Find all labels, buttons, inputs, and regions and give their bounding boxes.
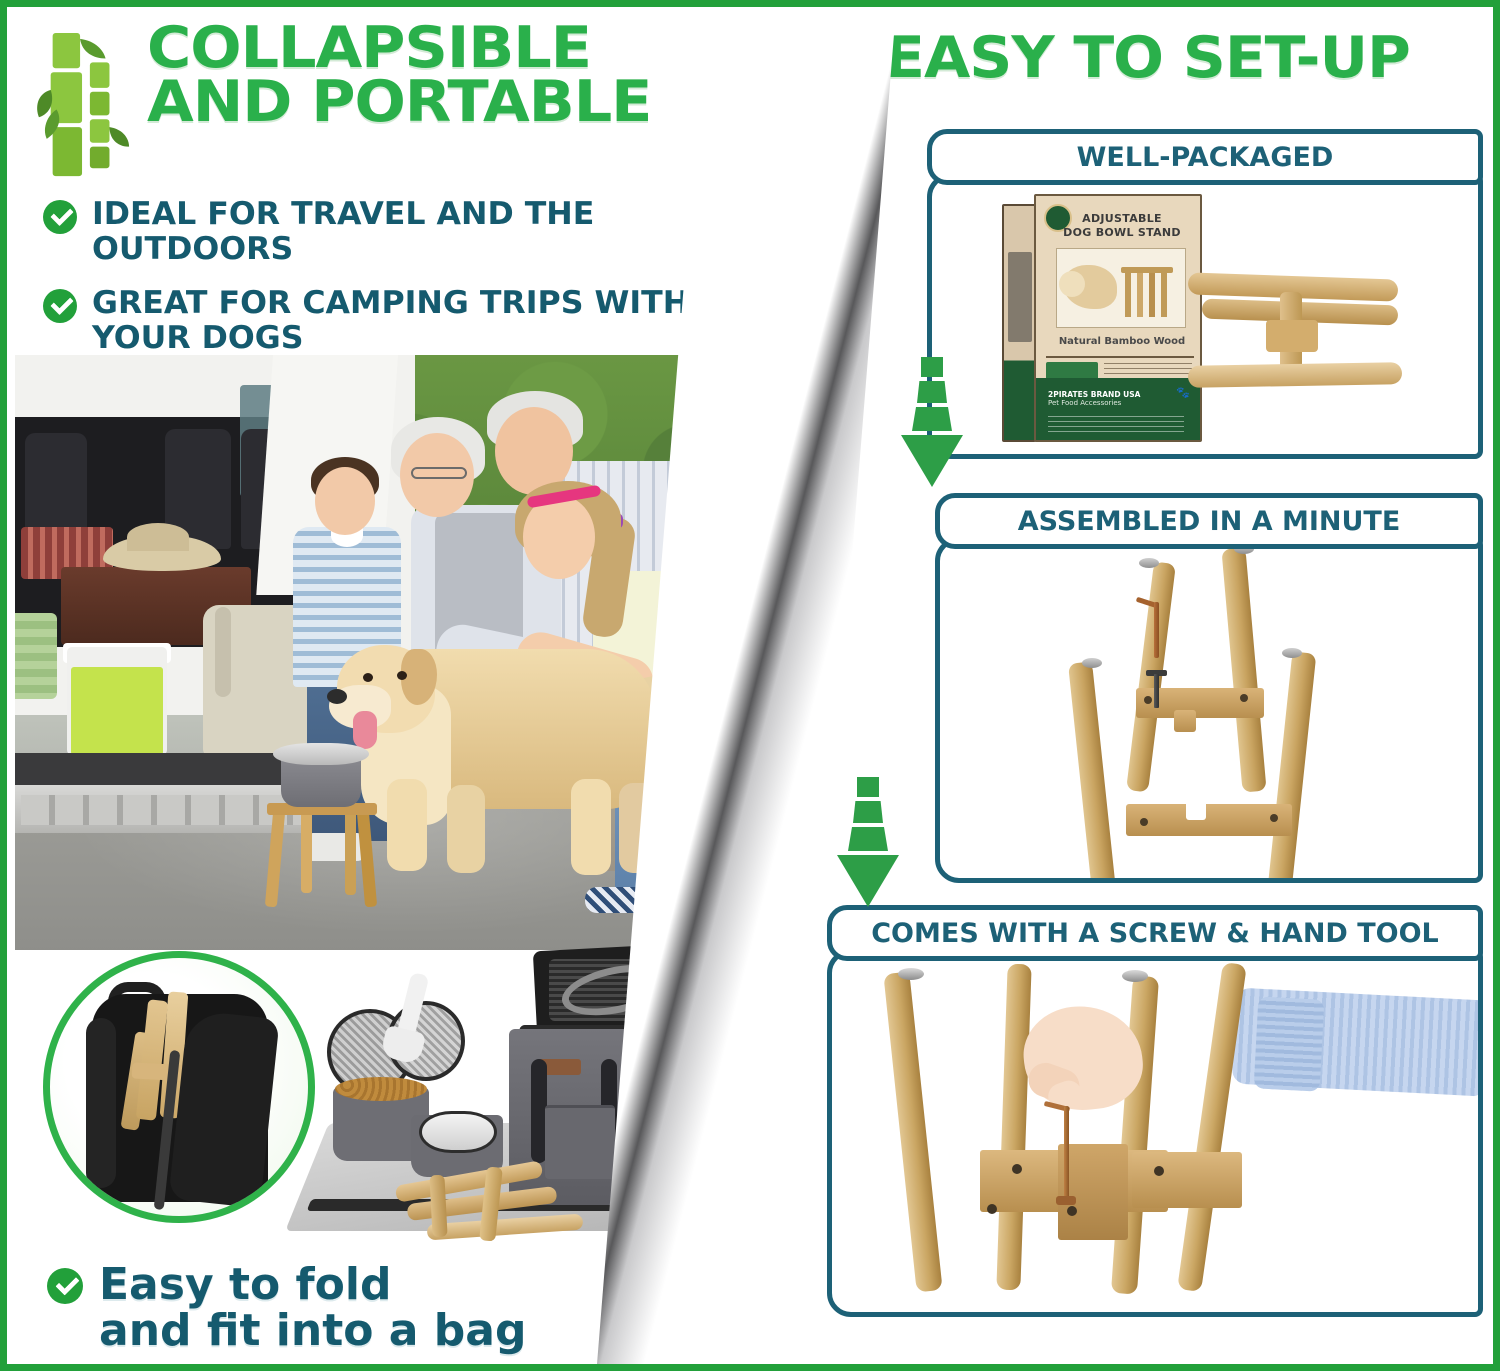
- package-subtitle: Natural Bamboo Wood: [1052, 336, 1192, 347]
- step-1-block: WELL-PACKAGED ADJUSTABLE DOG BOWL STAND: [927, 129, 1483, 459]
- package-title-line-1: ADJUSTABLE: [1054, 212, 1190, 226]
- bullet-label: IDEAL FOR TRAVEL AND THE OUTDOORS: [92, 197, 797, 266]
- step-1-body: ADJUSTABLE DOG BOWL STAND Natural Bamboo…: [927, 173, 1483, 459]
- step-2-block: ASSEMBLED IN A MINUTE: [935, 493, 1483, 883]
- backpack-closeup-circle: [43, 951, 315, 1223]
- step-2-body: [935, 537, 1483, 883]
- step-1-label: WELL-PACKAGED: [1077, 142, 1334, 173]
- down-arrow-icon: [901, 357, 963, 487]
- step-3-body: [827, 949, 1483, 1317]
- paw-icon: 🐾: [1176, 386, 1188, 396]
- infographic-root: COLLAPSIBLE AND PORTABLE IDEAL FOR TRAVE…: [0, 0, 1500, 1371]
- caption-line-2: and fit into a bag: [99, 1308, 526, 1354]
- caption-line-1: Easy to fold: [99, 1262, 526, 1308]
- check-circle-icon: [43, 200, 77, 234]
- headline-line-1: COLLAPSIBLE: [147, 21, 651, 75]
- list-item: IDEAL FOR TRAVEL AND THE OUTDOORS: [43, 197, 783, 266]
- page-title: COLLAPSIBLE AND PORTABLE: [147, 21, 651, 129]
- package-product-photo: [1056, 248, 1186, 328]
- bamboo-parts-image: [1188, 270, 1428, 400]
- package-brand-line-1: 2PIRATES BRAND USA: [1048, 390, 1140, 399]
- hero-photo: [15, 355, 783, 950]
- bamboo-icon: [35, 29, 133, 184]
- product-gallery: [15, 937, 785, 1297]
- headline-block: COLLAPSIBLE AND PORTABLE: [35, 21, 735, 184]
- bullet-label: GREAT FOR CAMPING TRIPS WITH YOUR DOGS: [92, 286, 797, 355]
- list-item: GREAT FOR CAMPING TRIPS WITH YOUR DOGS: [43, 286, 783, 355]
- check-circle-icon: [43, 289, 77, 323]
- step-3-block: COMES WITH A SCREW & HAND TOOL: [827, 905, 1483, 1317]
- headline-line-2: AND PORTABLE: [147, 75, 651, 129]
- package-title-line-2: DOG BOWL STAND: [1054, 226, 1190, 240]
- step-2-label: ASSEMBLED IN A MINUTE: [1018, 506, 1401, 537]
- right-panel-title: EASY TO SET-UP: [780, 25, 1500, 91]
- left-panel: COLLAPSIBLE AND PORTABLE IDEAL FOR TRAVE…: [7, 7, 797, 1364]
- step-2-tab: ASSEMBLED IN A MINUTE: [935, 493, 1483, 549]
- step-3-label: COMES WITH A SCREW & HAND TOOL: [871, 918, 1439, 949]
- package-box-image: ADJUSTABLE DOG BOWL STAND Natural Bamboo…: [1002, 194, 1202, 442]
- feature-bullet-list: IDEAL FOR TRAVEL AND THE OUTDOORS GREAT …: [43, 197, 783, 376]
- down-arrow-icon: [837, 777, 899, 907]
- right-panel: EASY TO SET-UP WELL-PACKAGED ADJUSTABLE …: [797, 7, 1500, 1364]
- step-1-tab: WELL-PACKAGED: [927, 129, 1483, 185]
- assembled-frame-image: [940, 542, 1478, 878]
- step-3-tab: COMES WITH A SCREW & HAND TOOL: [827, 905, 1483, 961]
- fold-caption: Easy to fold and fit into a bag: [47, 1262, 687, 1354]
- hand-tool-image: [832, 954, 1478, 1312]
- package-brand-line-2: Pet Food Accessories: [1048, 399, 1121, 407]
- check-circle-icon: [47, 1268, 83, 1304]
